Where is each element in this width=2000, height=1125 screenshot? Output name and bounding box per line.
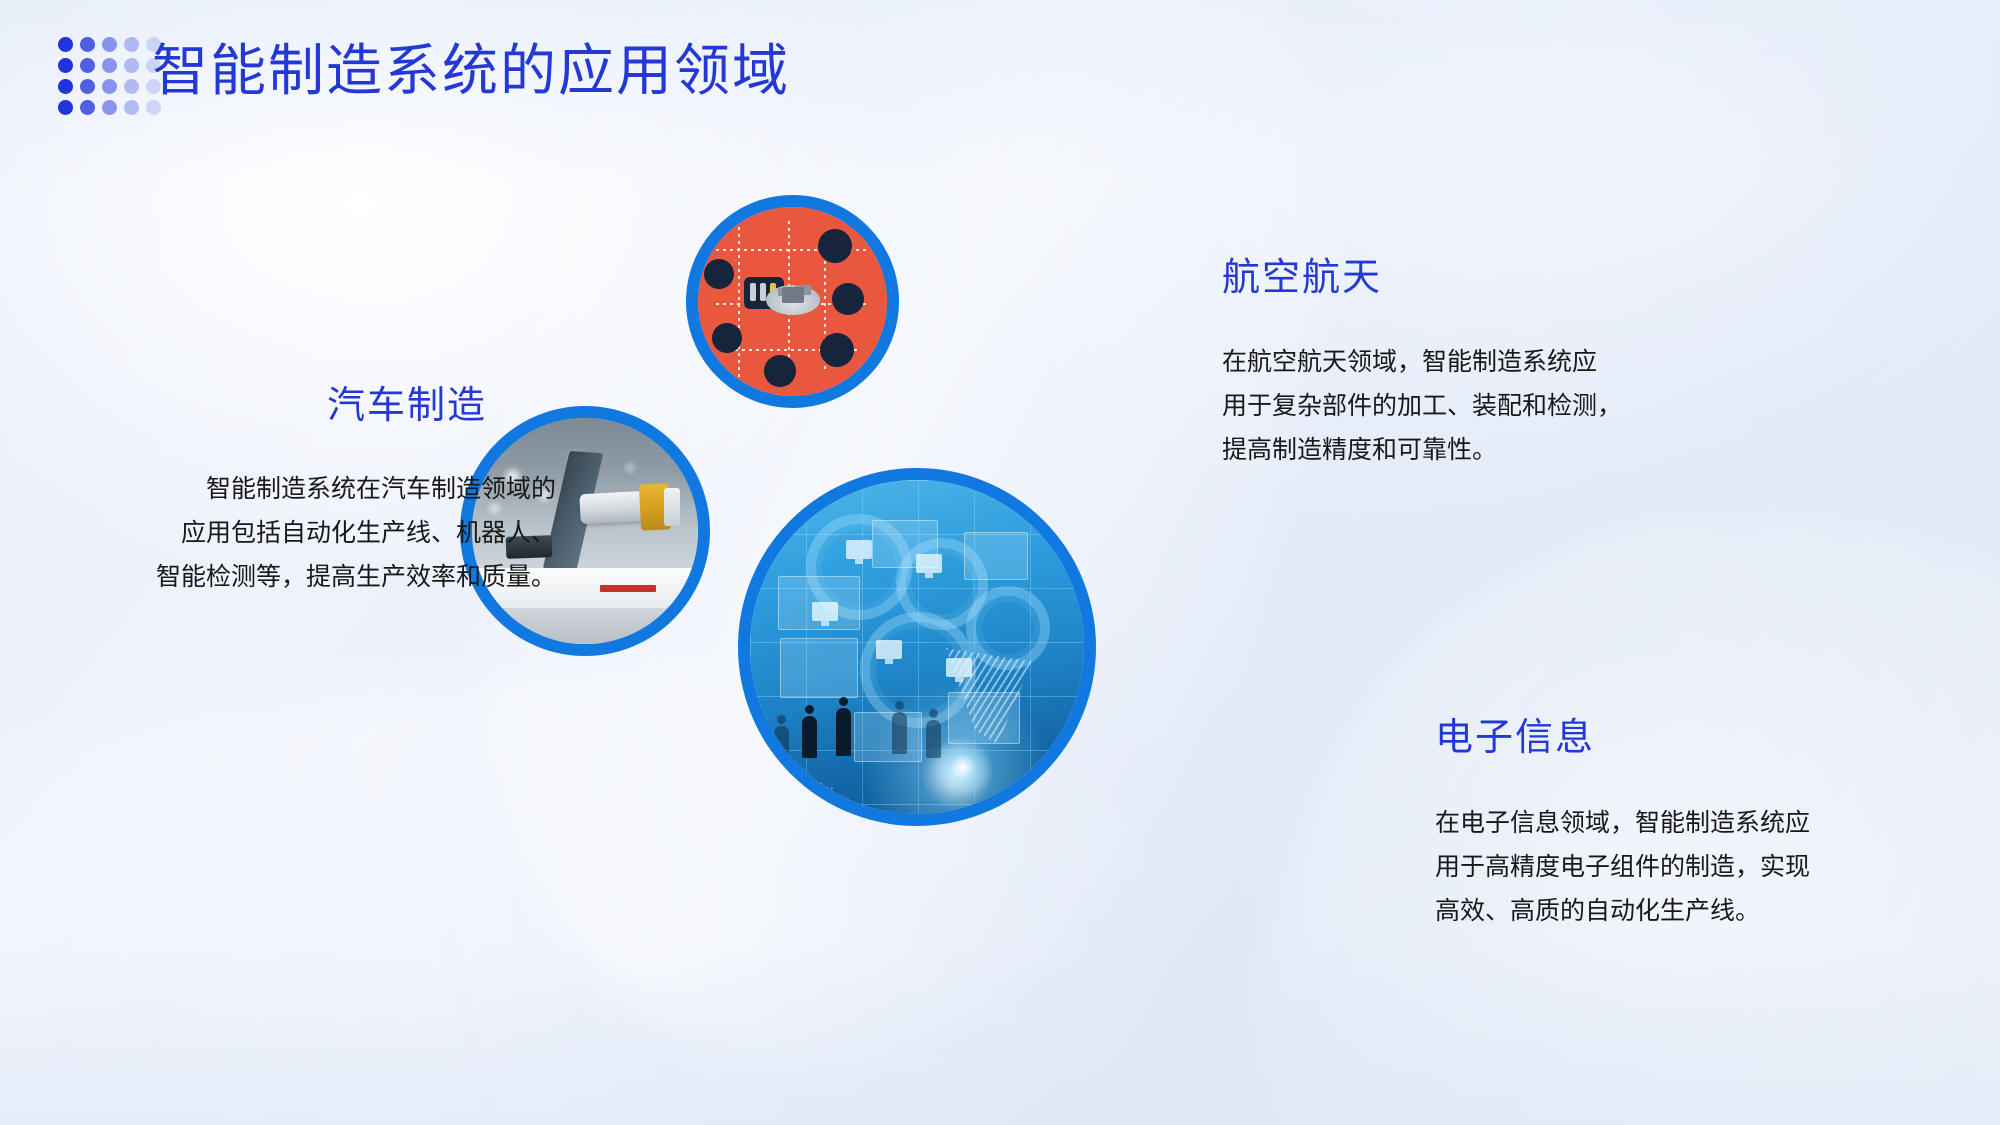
page-title: 智能制造系统的应用领域: [152, 36, 790, 108]
section-body-electronics: 在电子信息领域，智能制造系统应 用于高精度电子组件的制造，实现 高效、高质的自动…: [1435, 802, 2000, 934]
section-body-aerospace: 在航空航天领域，智能制造系统应 用于复杂部件的加工、装配和检测， 提高制造精度和…: [1222, 341, 1842, 473]
slide-header: 智能制造系统的应用领域: [0, 0, 2000, 150]
electronics-image-watermark: www...: [796, 780, 834, 792]
aerospace-image-circle: [698, 207, 887, 396]
section-heading-aerospace: 航空航天: [1222, 255, 1382, 301]
aerospace-factory-icon: [766, 285, 820, 315]
electronics-image-circle: www...: [750, 480, 1084, 814]
section-heading-automotive: 汽车制造: [327, 383, 487, 429]
section-body-automotive: 智能制造系统在汽车制造领域的 应用包括自动化生产线、机器人、 智能检测等，提高生…: [28, 468, 556, 600]
section-heading-electronics: 电子信息: [1435, 715, 1595, 761]
presentation-slide: 智能制造系统的应用领域: [0, 0, 2000, 1125]
